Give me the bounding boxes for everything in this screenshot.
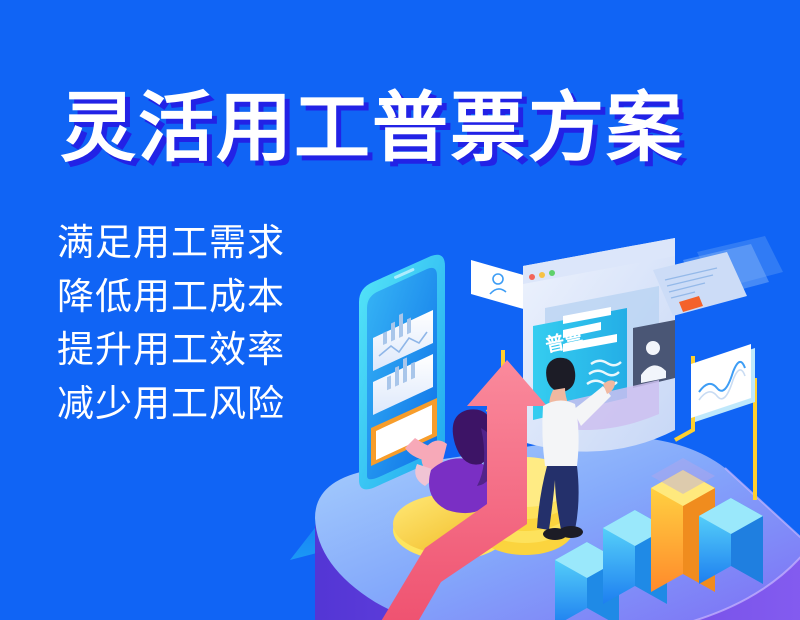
benefit-item-2: 降低用工成本: [57, 270, 285, 324]
benefit-item-1: 满足用工需求: [57, 216, 285, 270]
illustration-stage: 普票: [255, 230, 800, 620]
portrait-panel: [633, 320, 675, 388]
poster-canvas: 普票: [0, 0, 800, 620]
benefit-item-4: 减少用工风险: [57, 377, 285, 431]
benefit-list: 满足用工需求 降低用工成本 提升用工效率 减少用工风险: [57, 216, 285, 431]
benefit-item-3: 提升用工效率: [57, 323, 285, 377]
page-title: 灵活用工普票方案: [60, 88, 684, 170]
